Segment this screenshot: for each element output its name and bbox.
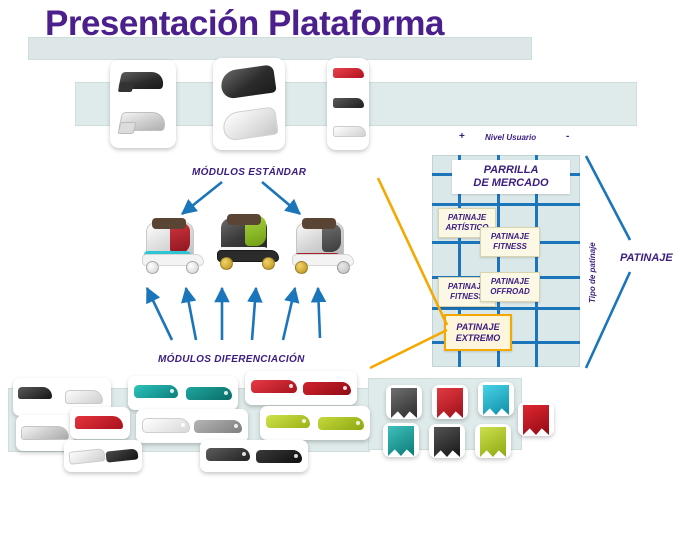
diff-card-rail-pair-lime[interactable] (260, 406, 370, 440)
artistic-skate-wheel-front (186, 261, 199, 274)
rail-black-b (256, 450, 302, 463)
market-cell-fitness-1-line1: PATINAJE (491, 232, 529, 242)
axis-side-label: Tipo de patinaje (588, 242, 597, 303)
fitness-skate-collar (227, 214, 261, 225)
rail-teal-a (134, 385, 178, 398)
diff-card-cuff-red[interactable] (432, 385, 468, 419)
dark-frame-tab (118, 82, 134, 92)
rail-grey (194, 420, 242, 433)
label-differentiation-modules: MÓDULOS DIFERENCIACIÓN (158, 354, 305, 365)
diff-card-cuff-dark-grey[interactable] (386, 385, 422, 419)
rail-teal-b (186, 387, 232, 400)
rail-lime-a (266, 415, 310, 428)
diff-card-cuff-cyan[interactable] (478, 382, 514, 416)
page-title: Presentación Plataforma (45, 4, 605, 44)
arrows-standard-to-skates (182, 182, 300, 214)
market-cell-fitness-1-line2: FITNESS (493, 242, 527, 252)
standard-module-card-frames[interactable] (110, 60, 176, 148)
cuff-red-icon (437, 388, 463, 418)
market-cell-offroad-line1: PATINAJE (491, 277, 529, 287)
market-cell-extremo-line2: EXTREMO (456, 333, 501, 344)
fitness-skate-wheel-front (262, 257, 275, 270)
market-grid-header-line1: PARRILLA (484, 164, 539, 177)
offroad-skate-collar (302, 218, 336, 229)
market-grid-header-line2: DE MERCADO (473, 177, 548, 190)
market-cell-extremo-line1: PATINAJE (456, 322, 499, 333)
axis-minus: - (566, 131, 569, 142)
diff-card-rail-pair-teal[interactable] (128, 376, 238, 410)
diff-card-tube-pair-white-black[interactable] (64, 440, 142, 472)
grid-line-h-5 (432, 307, 580, 310)
market-cell-extremo[interactable]: PATINAJE EXTREMO (444, 314, 512, 351)
rail-red-a (251, 380, 297, 393)
light-frame-tab (118, 122, 137, 134)
diff-card-cuff-teal[interactable] (383, 423, 419, 457)
axis-top-label: Nivel Usuario (485, 133, 536, 142)
cuff-red-2-icon (523, 405, 549, 435)
diff-card-cuff-lime[interactable] (475, 424, 511, 458)
black-boot (219, 64, 276, 99)
grid-line-h-2 (432, 203, 580, 206)
cuff-lime-icon (480, 427, 506, 457)
skate-artistic[interactable] (140, 218, 210, 278)
tube-black (106, 448, 139, 462)
cuff-teal-icon (388, 426, 414, 456)
artistic-skate-wheel-rear (146, 261, 159, 274)
brace-white (65, 390, 103, 404)
skate-fitness[interactable] (215, 214, 285, 274)
market-cell-offroad-line2: OFFROAD (490, 287, 530, 297)
cuff-black-icon (434, 427, 460, 457)
arrows-differentiation-to-skates (147, 288, 320, 340)
fitness-skate-wheel-rear (220, 257, 233, 270)
red-brace (333, 68, 364, 78)
black-brace (333, 98, 364, 108)
brace-red (75, 416, 123, 429)
axis-plus: + (459, 131, 465, 142)
diff-card-rail-pair-red[interactable] (245, 371, 357, 405)
market-grid-header: PARRILLA DE MERCADO (452, 160, 570, 194)
market-cell-fitness-1[interactable]: PATINAJE FITNESS (480, 227, 540, 257)
offroad-skate-wheel-front (337, 261, 350, 274)
diff-card-brace-red[interactable] (70, 407, 130, 439)
rail-red-b (303, 382, 351, 395)
bracket-label-patinaje: PATINAJE (620, 252, 673, 264)
brace-silver (21, 426, 69, 440)
white-boot (221, 106, 278, 141)
white-brace (333, 126, 366, 137)
offroad-skate-wheel-rear (295, 261, 308, 274)
cuff-dark-grey-icon (391, 388, 417, 418)
cuff-cyan-icon (483, 385, 509, 415)
tube-white (68, 448, 105, 465)
market-cell-fitness-2-line2: FITNESS (450, 292, 484, 302)
skate-offroad[interactable] (290, 218, 360, 278)
rail-lime-b (318, 417, 364, 430)
artistic-skate-collar (152, 218, 186, 229)
label-standard-modules: MÓDULOS ESTÁNDAR (192, 167, 306, 178)
diff-card-rail-pair-white-grey[interactable] (136, 409, 248, 443)
diff-card-rail-pair-black[interactable] (200, 440, 308, 472)
market-cell-artistico-line1: PATINAJE (448, 213, 486, 223)
brace-dark (18, 387, 52, 399)
market-grid: PARRILLA DE MERCADO PATINAJE ARTÍSTICO P… (432, 155, 580, 367)
diff-card-cuff-red-2[interactable] (518, 402, 554, 436)
rail-black-a (206, 448, 250, 461)
diff-card-cuff-black[interactable] (429, 424, 465, 458)
rail-white (142, 418, 190, 433)
standard-module-card-boots[interactable] (213, 58, 285, 150)
slide-canvas: Presentación Plataforma MÓDULOS ESTÁNDAR (0, 0, 690, 539)
market-cell-offroad[interactable]: PATINAJE OFFROAD (480, 272, 540, 302)
standard-module-card-braces[interactable] (327, 58, 369, 150)
